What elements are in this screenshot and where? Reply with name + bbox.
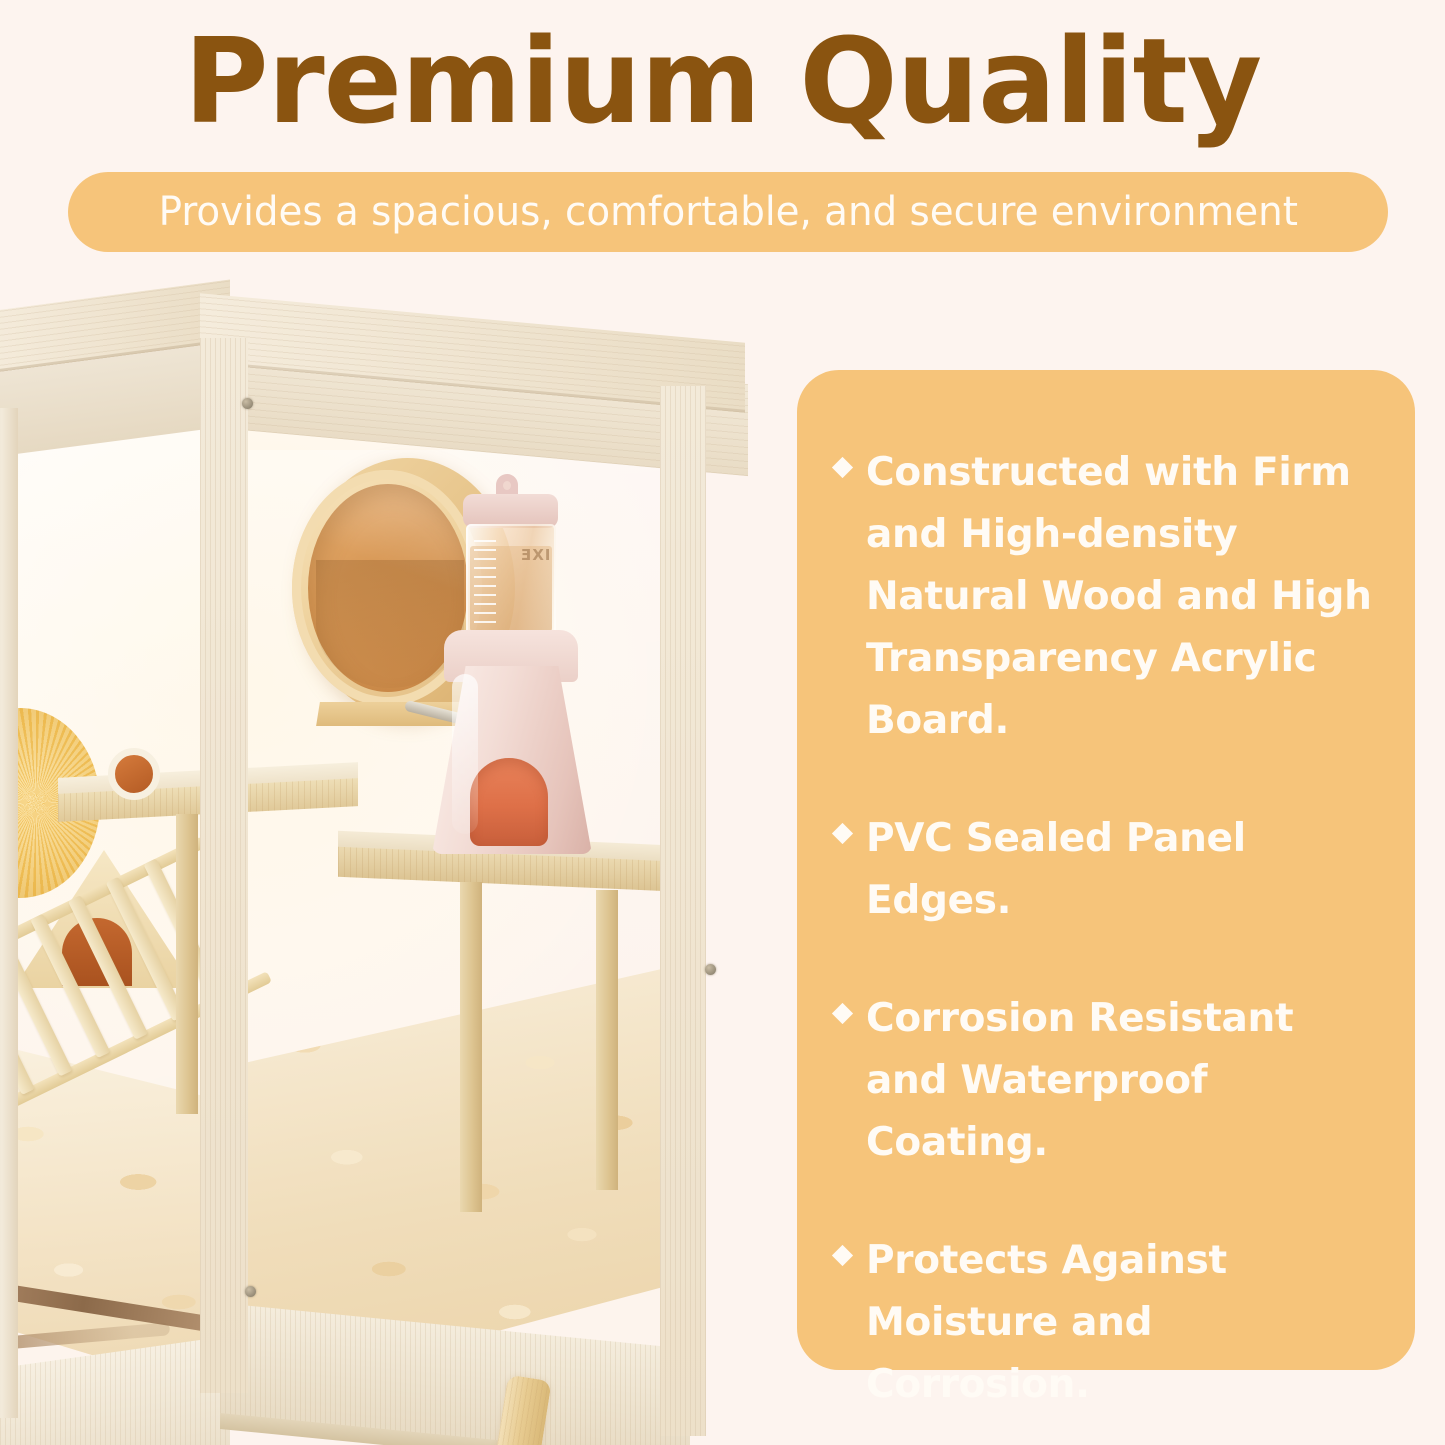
assembly-screw xyxy=(705,964,716,975)
bottle-brand-label: IXE xyxy=(520,546,550,564)
feature-bullet-item: Constructed with Firm and High-density N… xyxy=(831,442,1381,752)
feature-bullet-text: Corrosion Resistant and Waterproof Coati… xyxy=(866,988,1381,1174)
feature-bullet-text: Protects Against Moisture and Corrosion. xyxy=(866,1230,1381,1416)
diamond-bullet-icon xyxy=(832,1245,853,1266)
assembly-screw xyxy=(245,1286,256,1297)
feature-bullet-item: Protects Against Moisture and Corrosion. xyxy=(831,1230,1381,1416)
feature-panel: Constructed with Firm and High-density N… xyxy=(797,370,1415,1370)
subtitle-text: Provides a spacious, comfortable, and se… xyxy=(158,190,1297,234)
decorative-ring xyxy=(108,748,160,800)
diamond-bullet-icon xyxy=(832,457,853,478)
shelf-support-leg xyxy=(460,882,482,1212)
cage-pillar-left xyxy=(200,338,248,1393)
shelf-support-leg xyxy=(176,814,198,1114)
bottle-dispenser-opening xyxy=(470,758,548,846)
feature-bullet-item: Corrosion Resistant and Waterproof Coati… xyxy=(831,988,1381,1174)
shelf-support-leg xyxy=(596,890,618,1190)
page-title: Premium Quality xyxy=(14,22,1430,140)
bottle-hook-hole xyxy=(503,481,511,490)
feature-bullet-text: PVC Sealed Panel Edges. xyxy=(866,808,1381,932)
bottle-gloss-highlight xyxy=(452,674,478,834)
assembly-screw xyxy=(242,398,253,409)
bottle-measurement-scale xyxy=(474,540,496,632)
diamond-bullet-icon xyxy=(832,823,853,844)
cage-pillar-far-left xyxy=(0,408,18,1418)
diamond-bullet-icon xyxy=(832,1003,853,1024)
bottle-cap xyxy=(463,494,558,528)
cage-pillar-right xyxy=(660,386,706,1436)
subtitle-banner: Provides a spacious, comfortable, and se… xyxy=(68,172,1388,252)
feature-bullet-text: Constructed with Firm and High-density N… xyxy=(866,442,1381,752)
product-photo: IXE xyxy=(0,278,770,1445)
feature-bullet-item: PVC Sealed Panel Edges. xyxy=(831,808,1381,932)
exercise-wheel-shadow xyxy=(316,560,464,688)
